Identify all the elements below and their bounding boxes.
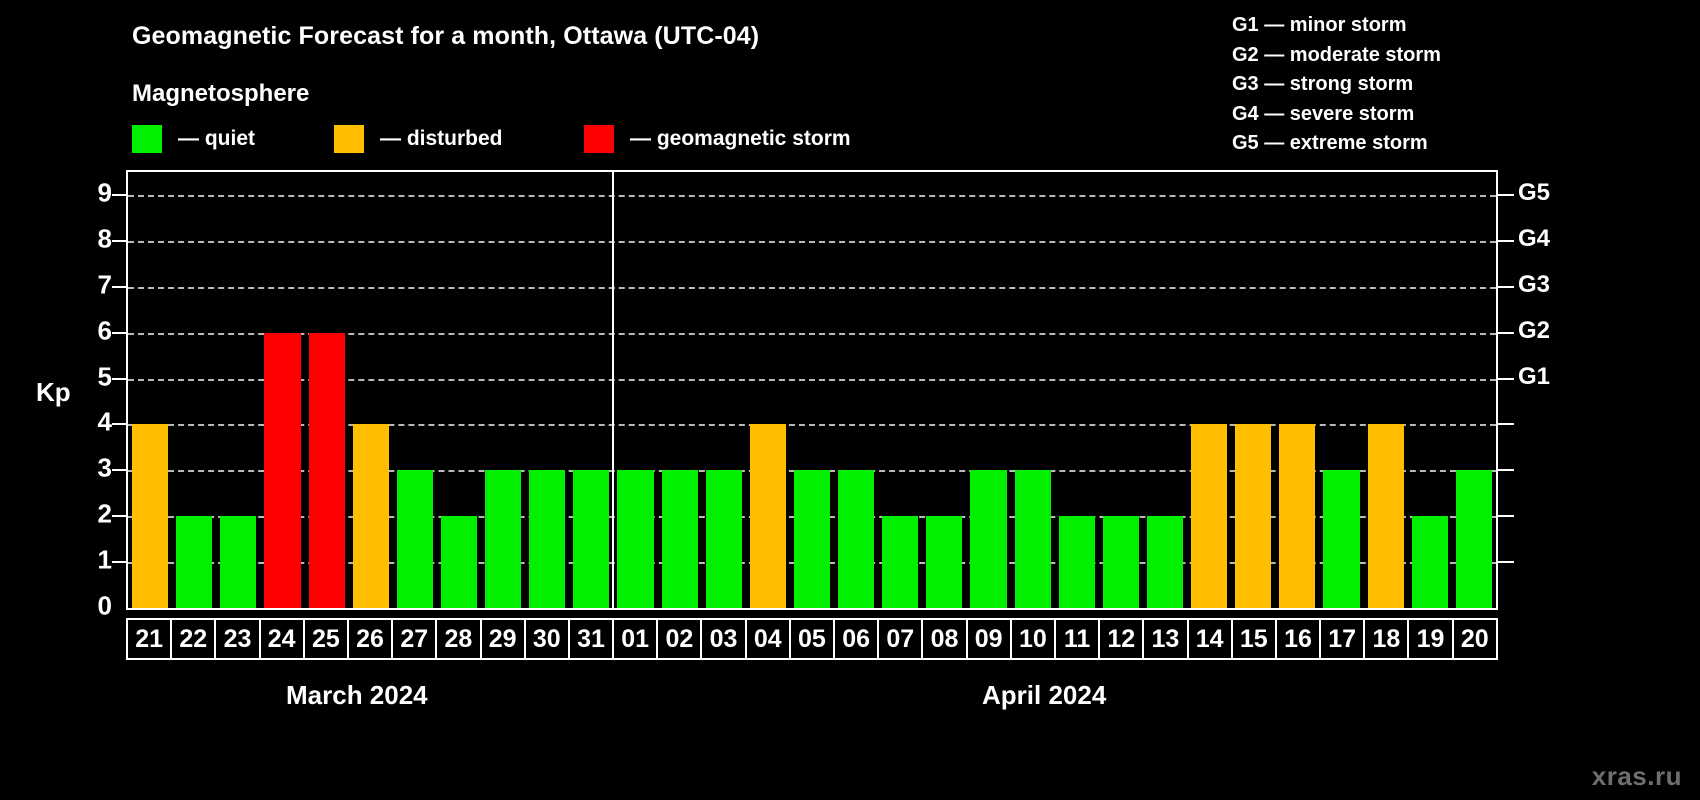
bar-cell-25[interactable] bbox=[305, 172, 349, 608]
bar-19[interactable] bbox=[1412, 516, 1448, 608]
bar-10[interactable] bbox=[1015, 470, 1051, 608]
bar-08[interactable] bbox=[926, 516, 962, 608]
date-cell-16[interactable]: 16 bbox=[1275, 618, 1321, 660]
date-cell-28[interactable]: 28 bbox=[435, 618, 481, 660]
g-scale-row-5: G5 — extreme storm bbox=[1232, 129, 1441, 159]
legend-item-label: — geomagnetic storm bbox=[630, 125, 851, 153]
quiet-swatch bbox=[132, 125, 162, 153]
bar-cell-08[interactable] bbox=[922, 172, 966, 608]
date-label: 19 bbox=[1417, 627, 1445, 652]
g-tick-G1: G1 bbox=[1518, 363, 1550, 391]
date-axis: 2122232425262728293031010203040506070809… bbox=[126, 618, 1498, 660]
bar-16[interactable] bbox=[1279, 424, 1315, 608]
date-label: 01 bbox=[621, 627, 649, 652]
bar-12[interactable] bbox=[1103, 516, 1139, 608]
bar-11[interactable] bbox=[1059, 516, 1095, 608]
date-cell-03[interactable]: 03 bbox=[700, 618, 746, 660]
bar-02[interactable] bbox=[662, 470, 698, 608]
date-label: 06 bbox=[842, 627, 870, 652]
date-label: 08 bbox=[931, 627, 959, 652]
date-cell-02[interactable]: 02 bbox=[656, 618, 702, 660]
g-axis-tick-mark-kp-2 bbox=[1498, 515, 1514, 517]
g-tick-G4: G4 bbox=[1518, 225, 1550, 253]
date-label: 25 bbox=[312, 627, 340, 652]
y-tick-1: 1 bbox=[78, 545, 112, 576]
bar-cell-31[interactable] bbox=[569, 172, 613, 608]
date-label: 28 bbox=[445, 627, 473, 652]
legend-item-0: — quiet bbox=[132, 125, 255, 153]
legend-item-label: — disturbed bbox=[380, 125, 503, 153]
g-tick-G3: G3 bbox=[1518, 271, 1550, 299]
bar-cell-19[interactable] bbox=[1408, 172, 1452, 608]
date-label: 29 bbox=[489, 627, 517, 652]
date-cell-10[interactable]: 10 bbox=[1010, 618, 1056, 660]
bar-17[interactable] bbox=[1323, 470, 1359, 608]
storm-swatch bbox=[584, 125, 614, 153]
y-tick-2: 2 bbox=[78, 499, 112, 530]
date-label: 17 bbox=[1328, 627, 1356, 652]
bar-cell-26[interactable] bbox=[349, 172, 393, 608]
date-cell-26[interactable]: 26 bbox=[347, 618, 393, 660]
bar-cell-20[interactable] bbox=[1452, 172, 1496, 608]
bar-cell-18[interactable] bbox=[1364, 172, 1408, 608]
date-label: 14 bbox=[1196, 627, 1224, 652]
bar-cell-11[interactable] bbox=[1055, 172, 1099, 608]
date-cell-01[interactable]: 01 bbox=[612, 618, 658, 660]
bar-cell-01[interactable] bbox=[613, 172, 657, 608]
date-label: 27 bbox=[400, 627, 428, 652]
date-label: 12 bbox=[1107, 627, 1135, 652]
g-axis-tick-mark-kp-8 bbox=[1498, 240, 1514, 242]
y-tick-mark-2 bbox=[112, 515, 126, 517]
legend-item-1: — disturbed bbox=[334, 125, 503, 153]
g-scale-row-3: G3 — strong storm bbox=[1232, 70, 1441, 100]
g-axis-tick-mark-kp-4 bbox=[1498, 423, 1514, 425]
y-axis-title: Kp bbox=[36, 377, 71, 408]
bar-cell-29[interactable] bbox=[481, 172, 525, 608]
date-label: 23 bbox=[224, 627, 252, 652]
bar-29[interactable] bbox=[485, 470, 521, 608]
bar-cell-23[interactable] bbox=[216, 172, 260, 608]
bar-30[interactable] bbox=[529, 470, 565, 608]
bar-28[interactable] bbox=[441, 516, 477, 608]
date-label: 18 bbox=[1372, 627, 1400, 652]
bar-cell-06[interactable] bbox=[834, 172, 878, 608]
date-cell-06[interactable]: 06 bbox=[833, 618, 879, 660]
y-tick-6: 6 bbox=[78, 315, 112, 346]
g-axis-tick-mark-kp-3 bbox=[1498, 469, 1514, 471]
date-label: 15 bbox=[1240, 627, 1268, 652]
y-tick-mark-3 bbox=[112, 469, 126, 471]
date-cell-07[interactable]: 07 bbox=[877, 618, 923, 660]
bar-cell-07[interactable] bbox=[878, 172, 922, 608]
g-scale-row-2: G2 — moderate storm bbox=[1232, 41, 1441, 71]
date-cell-29[interactable]: 29 bbox=[480, 618, 526, 660]
date-cell-09[interactable]: 09 bbox=[966, 618, 1012, 660]
g-axis-tick-mark-kp-6 bbox=[1498, 332, 1514, 334]
y-tick-mark-1 bbox=[112, 561, 126, 563]
legend-item-2: — geomagnetic storm bbox=[584, 125, 851, 153]
date-label: 16 bbox=[1284, 627, 1312, 652]
date-label: 24 bbox=[268, 627, 296, 652]
g-axis-tick-mark-kp-5 bbox=[1498, 378, 1514, 380]
date-cell-13[interactable]: 13 bbox=[1142, 618, 1188, 660]
g-tick-G2: G2 bbox=[1518, 317, 1550, 345]
g-axis-tick-mark-kp-7 bbox=[1498, 286, 1514, 288]
y-tick-4: 4 bbox=[78, 407, 112, 438]
bar-04[interactable] bbox=[750, 424, 786, 608]
page-title: Geomagnetic Forecast for a month, Ottawa… bbox=[132, 22, 759, 51]
bar-cell-12[interactable] bbox=[1099, 172, 1143, 608]
date-cell-20[interactable]: 20 bbox=[1452, 618, 1498, 660]
date-label: 22 bbox=[179, 627, 207, 652]
watermark: xras.ru bbox=[1592, 761, 1682, 792]
bar-18[interactable] bbox=[1368, 424, 1404, 608]
legend-item-label: — quiet bbox=[178, 125, 255, 153]
date-label: 02 bbox=[665, 627, 693, 652]
bar-27[interactable] bbox=[397, 470, 433, 608]
date-cell-24[interactable]: 24 bbox=[259, 618, 305, 660]
bar-cell-24[interactable] bbox=[260, 172, 304, 608]
bar-23[interactable] bbox=[220, 516, 256, 608]
bar-cell-04[interactable] bbox=[746, 172, 790, 608]
bar-14[interactable] bbox=[1191, 424, 1227, 608]
y-tick-mark-4 bbox=[112, 423, 126, 425]
bar-cell-09[interactable] bbox=[966, 172, 1010, 608]
date-label: 03 bbox=[710, 627, 738, 652]
date-label: 31 bbox=[577, 627, 605, 652]
g-scale-legend: G1 — minor stormG2 — moderate stormG3 — … bbox=[1232, 11, 1441, 159]
y-tick-mark-9 bbox=[112, 194, 126, 196]
g-scale-row-1: G1 — minor storm bbox=[1232, 11, 1441, 41]
g-tick-G5: G5 bbox=[1518, 179, 1550, 207]
date-cell-18[interactable]: 18 bbox=[1363, 618, 1409, 660]
y-tick-mark-8 bbox=[112, 240, 126, 242]
bar-cell-10[interactable] bbox=[1011, 172, 1055, 608]
date-label: 09 bbox=[975, 627, 1003, 652]
date-cell-21[interactable]: 21 bbox=[126, 618, 172, 660]
date-cell-05[interactable]: 05 bbox=[789, 618, 835, 660]
date-cell-19[interactable]: 19 bbox=[1407, 618, 1453, 660]
date-cell-11[interactable]: 11 bbox=[1054, 618, 1100, 660]
date-cell-15[interactable]: 15 bbox=[1231, 618, 1277, 660]
date-label: 13 bbox=[1152, 627, 1180, 652]
bar-cell-17[interactable] bbox=[1319, 172, 1363, 608]
date-label: 20 bbox=[1461, 627, 1489, 652]
bar-13[interactable] bbox=[1147, 516, 1183, 608]
bar-21[interactable] bbox=[132, 424, 168, 608]
bar-cell-30[interactable] bbox=[525, 172, 569, 608]
bar-cell-13[interactable] bbox=[1143, 172, 1187, 608]
bar-07[interactable] bbox=[882, 516, 918, 608]
g-scale-row-4: G4 — severe storm bbox=[1232, 100, 1441, 130]
y-tick-9: 9 bbox=[78, 177, 112, 208]
y-tick-mark-6 bbox=[112, 332, 126, 334]
chart-subtitle: Magnetosphere bbox=[132, 80, 309, 108]
g-scale-axis: G5G4G3G2G1 bbox=[1518, 170, 1638, 610]
bar-26[interactable] bbox=[353, 424, 389, 608]
bar-25[interactable] bbox=[309, 333, 345, 608]
date-label: 04 bbox=[754, 627, 782, 652]
bar-01[interactable] bbox=[617, 470, 653, 608]
bar-15[interactable] bbox=[1235, 424, 1271, 608]
y-tick-mark-5 bbox=[112, 378, 126, 380]
y-tick-3: 3 bbox=[78, 453, 112, 484]
y-tick-7: 7 bbox=[78, 269, 112, 300]
date-label: 21 bbox=[135, 627, 163, 652]
date-cell-14[interactable]: 14 bbox=[1187, 618, 1233, 660]
g-axis-tick-mark-kp-9 bbox=[1498, 194, 1514, 196]
bar-cell-16[interactable] bbox=[1275, 172, 1319, 608]
bar-cell-14[interactable] bbox=[1187, 172, 1231, 608]
bar-22[interactable] bbox=[176, 516, 212, 608]
bar-cell-22[interactable] bbox=[172, 172, 216, 608]
y-tick-8: 8 bbox=[78, 223, 112, 254]
bar-cell-28[interactable] bbox=[437, 172, 481, 608]
bar-cell-21[interactable] bbox=[128, 172, 172, 608]
bar-09[interactable] bbox=[970, 470, 1006, 608]
y-tick-mark-7 bbox=[112, 286, 126, 288]
g-axis-tick-mark-kp-1 bbox=[1498, 561, 1514, 563]
bar-20[interactable] bbox=[1456, 470, 1492, 608]
bar-03[interactable] bbox=[706, 470, 742, 608]
bar-31[interactable] bbox=[573, 470, 609, 608]
disturbed-swatch bbox=[334, 125, 364, 153]
date-label: 07 bbox=[886, 627, 914, 652]
bar-series bbox=[128, 172, 1496, 608]
month-caption-1: April 2024 bbox=[982, 680, 1106, 711]
date-cell-31[interactable]: 31 bbox=[568, 618, 614, 660]
bar-06[interactable] bbox=[838, 470, 874, 608]
bar-cell-02[interactable] bbox=[658, 172, 702, 608]
bar-cell-05[interactable] bbox=[790, 172, 834, 608]
bar-cell-15[interactable] bbox=[1231, 172, 1275, 608]
y-tick-5: 5 bbox=[78, 361, 112, 392]
date-cell-22[interactable]: 22 bbox=[170, 618, 216, 660]
month-divider bbox=[612, 172, 614, 608]
geomagnetic-forecast-chart: Geomagnetic Forecast for a month, Ottawa… bbox=[0, 0, 1700, 800]
bar-cell-27[interactable] bbox=[393, 172, 437, 608]
bar-05[interactable] bbox=[794, 470, 830, 608]
y-tick-0: 0 bbox=[78, 591, 112, 622]
date-label: 26 bbox=[356, 627, 384, 652]
bar-24[interactable] bbox=[264, 333, 300, 608]
plot-area bbox=[126, 170, 1498, 610]
date-label: 10 bbox=[1019, 627, 1047, 652]
date-cell-27[interactable]: 27 bbox=[391, 618, 437, 660]
date-cell-23[interactable]: 23 bbox=[214, 618, 260, 660]
date-cell-04[interactable]: 04 bbox=[745, 618, 791, 660]
date-cell-30[interactable]: 30 bbox=[524, 618, 570, 660]
y-axis-ticks: 9876543210 bbox=[78, 170, 112, 610]
date-cell-08[interactable]: 08 bbox=[921, 618, 967, 660]
date-label: 05 bbox=[798, 627, 826, 652]
date-cell-12[interactable]: 12 bbox=[1098, 618, 1144, 660]
date-label: 30 bbox=[533, 627, 561, 652]
bar-cell-03[interactable] bbox=[702, 172, 746, 608]
date-cell-25[interactable]: 25 bbox=[303, 618, 349, 660]
date-label: 11 bbox=[1064, 627, 1090, 652]
date-cell-17[interactable]: 17 bbox=[1319, 618, 1365, 660]
month-caption-0: March 2024 bbox=[286, 680, 428, 711]
